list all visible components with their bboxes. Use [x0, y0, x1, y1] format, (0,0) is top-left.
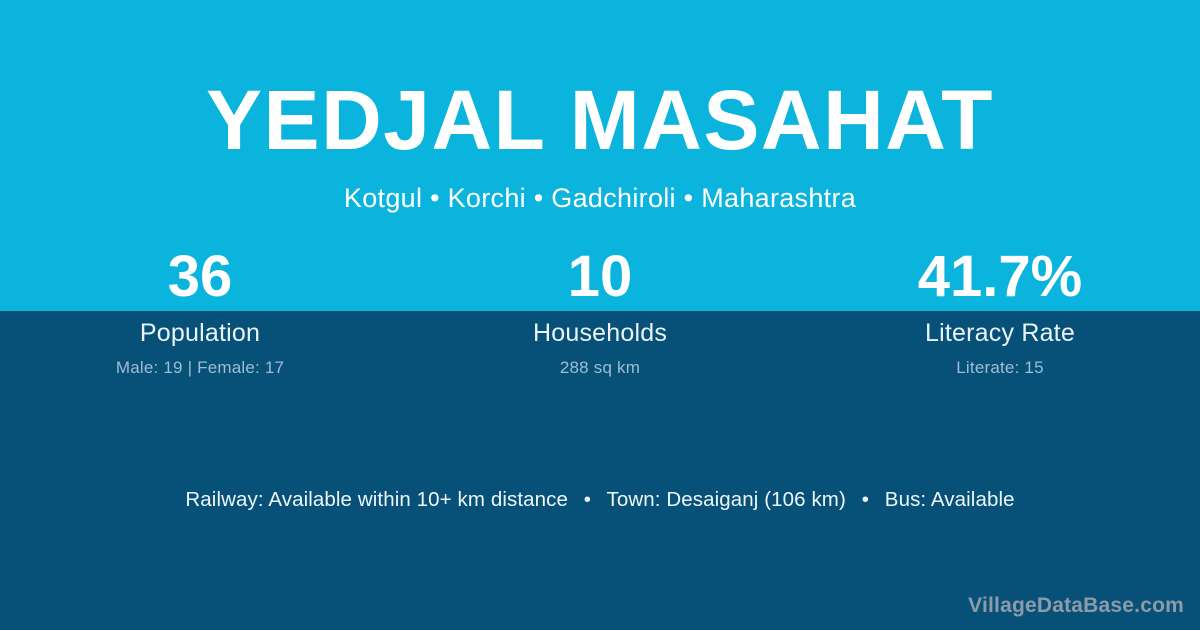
stats-row: 36 Population Male: 19 | Female: 17 10 H…: [0, 248, 1200, 383]
amenities-line: Railway: Available within 10+ km distanc…: [0, 487, 1200, 513]
stat-sub-detail: 288 sq km: [400, 358, 800, 377]
page-title: YEDJAL MASAHAT: [0, 78, 1200, 162]
stat-sub-detail: Male: 19 | Female: 17: [0, 358, 400, 377]
stat-population: 36 Population Male: 19 | Female: 17: [0, 248, 400, 383]
stat-value: 10: [400, 248, 800, 306]
village-info-card: YEDJAL MASAHAT Kotgul • Korchi • Gadchir…: [0, 0, 1200, 630]
stat-literacy-rate: 41.7% Literacy Rate Literate: 15: [800, 248, 1200, 383]
stat-label: Households: [400, 319, 800, 347]
stat-households: 10 Households 288 sq km: [400, 248, 800, 383]
stat-value: 36: [0, 248, 400, 306]
amenity-town: Town: Desaiganj (106 km): [607, 488, 846, 511]
amenity-bus: Bus: Available: [885, 488, 1015, 511]
amenity-separator-dot: •: [574, 487, 601, 513]
amenity-railway: Railway: Available within 10+ km distanc…: [185, 488, 568, 511]
stat-sub-detail: Literate: 15: [800, 358, 1200, 377]
card-header: YEDJAL MASAHAT Kotgul • Korchi • Gadchir…: [0, 0, 1200, 240]
stat-value: 41.7%: [800, 248, 1200, 306]
breadcrumb: Kotgul • Korchi • Gadchiroli • Maharasht…: [0, 183, 1200, 213]
amenity-separator-dot: •: [852, 487, 879, 513]
site-watermark: VillageDataBase.com: [968, 594, 1184, 618]
stat-label: Population: [0, 319, 400, 347]
stat-label: Literacy Rate: [800, 319, 1200, 347]
